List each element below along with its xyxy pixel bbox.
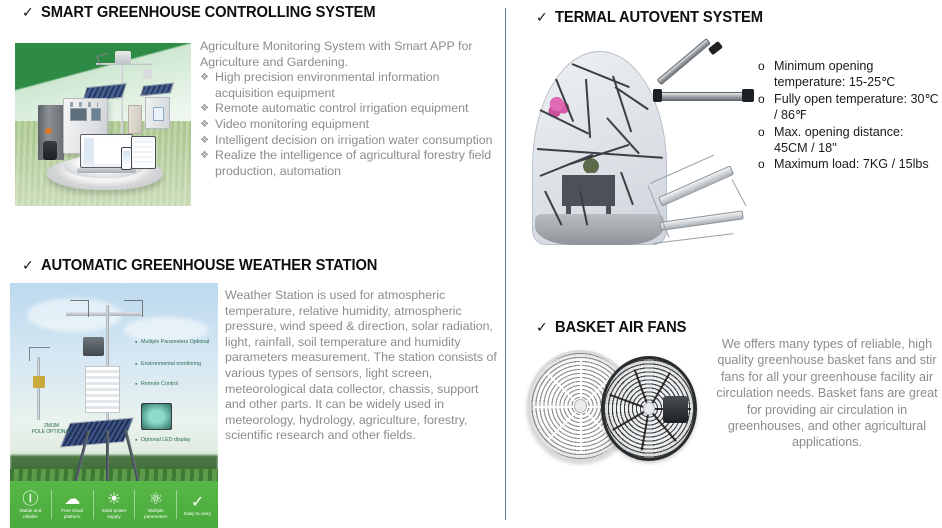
smart-greenhouse-copy: Agriculture Monitoring System with Smart…	[200, 39, 500, 179]
arm-end-cap	[742, 89, 753, 102]
image-label-remote-control: Remote Control	[141, 381, 210, 387]
list-item: Minimum opening temperature: 15-25℃	[756, 58, 940, 91]
list-item: Maximum load: 7KG / 15lbs	[756, 156, 940, 172]
fan-hub	[574, 399, 587, 412]
interior-table	[562, 175, 616, 206]
list-item: Remote automatic control irrigation equi…	[200, 101, 500, 117]
feature-icon-bar: Ⓘ Stable and reliable ☁ Free cloud platf…	[10, 481, 218, 528]
intro-paragraph: Agriculture Monitoring System with Smart…	[200, 39, 500, 70]
led-display	[141, 403, 172, 430]
sun-icon: ☀	[96, 490, 133, 507]
slide-canvas: ✓ SMART GREENHOUSE CONTROLLING SYSTEM Ag…	[0, 0, 942, 528]
cabinet-screen	[70, 108, 88, 121]
dimension-line	[731, 179, 746, 206]
sensor-module	[83, 337, 104, 357]
cabinet-vent	[70, 102, 98, 106]
check-icon: ✓	[22, 259, 34, 273]
feature-icon-cell: ✓ Easy to carry	[177, 493, 218, 517]
secondary-sensor-box	[33, 376, 45, 388]
cloud-shape	[124, 317, 207, 342]
arm-pivot-cap	[653, 89, 662, 102]
weather-station-copy: Weather Station is used for atmospheric …	[225, 288, 497, 444]
list-item: Realize the intelligence of agricultural…	[200, 148, 500, 179]
weather-station-image: Multiple Parameters Optional Environment…	[10, 283, 218, 528]
feature-icon-label: Multiple parameters	[144, 508, 167, 519]
basket-fans-copy: We offers many types of reliable, high q…	[716, 336, 938, 451]
section-heading-basket-fans: ✓ BASKET AIR FANS	[536, 319, 693, 337]
weather-sensor-head	[115, 51, 131, 64]
feature-icon-label: Free cloud platform	[61, 508, 83, 519]
image-label-pole-optional: 2M/3M POLE OPTIONAL	[27, 423, 77, 435]
image-label-environmental-monitoring: Environmental monitoring	[141, 361, 210, 367]
radiation-shield	[85, 366, 120, 413]
autovent-technical-drawing	[643, 162, 759, 259]
section-heading-weather-station: ✓ AUTOMATIC GREENHOUSE WEATHER STATION	[22, 257, 395, 275]
image-label-optional-led-display: Optional LED display	[141, 437, 210, 443]
feature-icon-cell: ⚛ Multiple parameters	[135, 490, 177, 519]
feature-icon-label: Stable and reliable	[19, 508, 41, 519]
smart-greenhouse-controller-image	[15, 43, 191, 206]
feature-icon-cell: ☀ Solar power supply	[94, 490, 136, 519]
image-label-multiple-parameters: Multiple Parameters Optional	[141, 339, 210, 345]
feature-icon-label: Easy to carry	[184, 511, 211, 516]
section-title: SMART GREENHOUSE CONTROLLING SYSTEM	[41, 4, 376, 22]
fan-motor	[663, 396, 688, 423]
anemometer-icon	[70, 300, 89, 317]
vent-arm-lower	[659, 92, 747, 101]
autovent-spec-list: Minimum opening temperature: 15-25℃ Full…	[756, 58, 940, 173]
autovent-image	[532, 33, 764, 263]
list-item: Fully open temperature: 30℃ / 86℉	[756, 91, 940, 124]
section-title: AUTOMATIC GREENHOUSE WEATHER STATION	[41, 257, 377, 275]
check-icon: ✓	[22, 6, 34, 20]
pump	[43, 141, 57, 161]
list-item: Max. opening distance: 45CM / 18''	[756, 124, 940, 157]
feature-bullet-list: High precision environmental information…	[200, 70, 500, 179]
dimension-line	[653, 233, 734, 244]
autovent-arm-photo	[653, 42, 755, 125]
spec-bullet-list: Minimum opening temperature: 15-25℃ Full…	[756, 58, 940, 173]
section-title: TERMAL AUTOVENT SYSTEM	[555, 9, 763, 27]
basket-fans-image	[527, 345, 712, 467]
atom-icon: ⚛	[137, 490, 174, 507]
list-item: High precision environmental information…	[200, 70, 500, 101]
check-circle-icon: ✓	[179, 493, 216, 510]
crop-field	[10, 469, 218, 481]
feature-icon-cell: Ⓘ Stable and reliable	[10, 490, 52, 519]
section-title: BASKET AIR FANS	[555, 319, 686, 337]
vent-arm-upper	[656, 37, 711, 85]
triangle-in-circle-icon: Ⓘ	[12, 490, 49, 507]
check-icon: ✓	[536, 11, 548, 25]
wind-vane-icon	[124, 300, 143, 317]
control-cabinet-right	[145, 97, 170, 130]
basket-fan-black	[601, 356, 697, 461]
camera-box	[143, 69, 152, 79]
column-divider	[505, 8, 506, 520]
list-item: Video monitoring equipment	[200, 117, 500, 133]
smartphone	[121, 147, 132, 170]
check-icon: ✓	[536, 321, 548, 335]
drawing-arm-lower	[659, 210, 743, 230]
control-cabinet-mid	[128, 105, 142, 134]
cabinet-screen-secondary	[91, 108, 102, 121]
fan-hub	[643, 402, 655, 415]
tablet	[131, 136, 156, 169]
section-heading-smart-greenhouse: ✓ SMART GREENHOUSE CONTROLLING SYSTEM	[22, 4, 393, 22]
section-heading-autovent: ✓ TERMAL AUTOVENT SYSTEM	[536, 9, 774, 27]
drawing-arm-upper	[658, 165, 734, 206]
secondary-pole	[37, 357, 40, 421]
feature-icon-label: Solar power supply	[102, 508, 127, 519]
list-item: Intelligent decision on irrigation water…	[200, 133, 500, 149]
cloud-icon: ☁	[54, 490, 91, 507]
feature-icon-cell: ☁ Free cloud platform	[52, 490, 94, 519]
